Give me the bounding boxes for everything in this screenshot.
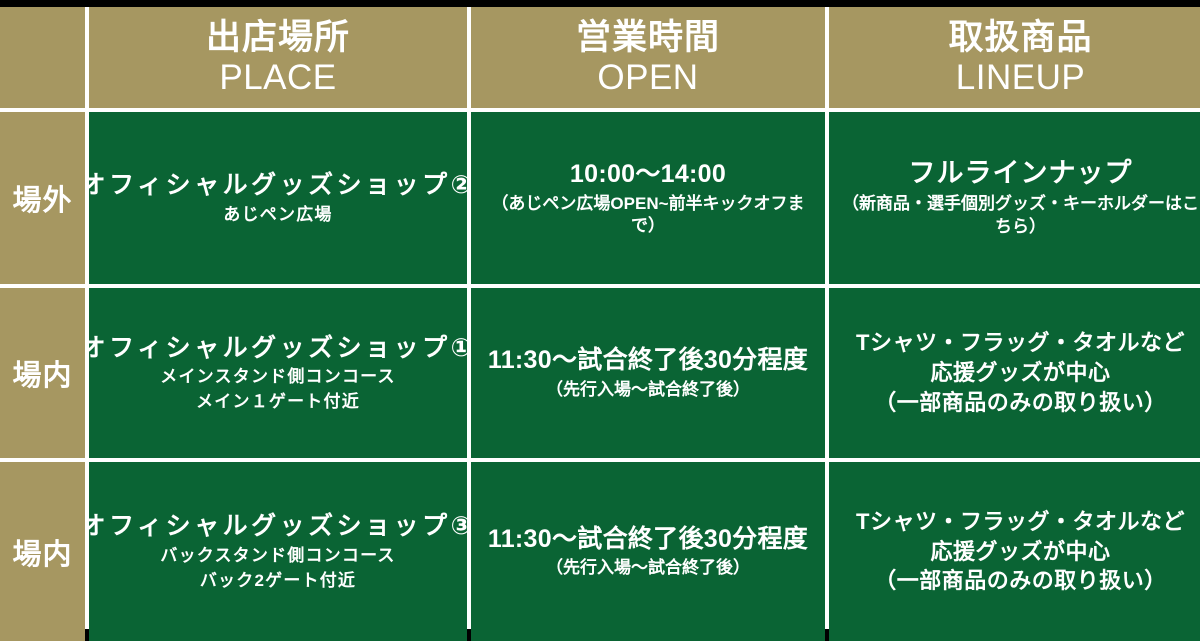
- open-main-text: 10:00〜14:00: [570, 159, 726, 190]
- open-cell: 10:00〜14:00 （あじペン広場OPEN~前半キックオフまで）: [471, 112, 825, 284]
- lineup-line-2: 応援グッズが中心: [930, 537, 1110, 567]
- header-place-en: PLACE: [219, 58, 336, 97]
- header-cell-open: 営業時間 OPEN: [471, 7, 825, 108]
- place-main-text: オフィシャルグッズショップ③: [89, 510, 467, 543]
- table-row: 場内: [0, 462, 85, 641]
- row-label: 場内: [12, 531, 72, 573]
- table-grid: 出店場所 PLACE 営業時間 OPEN 取扱商品 LINEUP 場外 オフィシ…: [0, 7, 1200, 629]
- header-open-en: OPEN: [597, 58, 698, 97]
- place-sub-text-2: メイン１ゲート付近: [196, 391, 360, 414]
- place-sub-text: あじペン広場: [223, 204, 332, 227]
- open-main-text: 11:30〜試合終了後30分程度: [488, 524, 808, 555]
- lineup-line-1: Tシャツ・フラッグ・タオルなど: [856, 507, 1185, 537]
- table-row: 場外: [0, 112, 85, 284]
- place-cell: オフィシャルグッズショップ① メインスタンド側コンコース メイン１ゲート付近: [89, 288, 467, 458]
- place-main-text: オフィシャルグッズショップ②: [89, 169, 467, 202]
- top-black-bar: [0, 0, 1200, 7]
- header-lineup-en: LINEUP: [956, 58, 1085, 97]
- lineup-cell: フルラインナップ （新商品・選手個別グッズ・キーホルダーはこちら）: [829, 112, 1200, 284]
- place-sub-text: バックスタンド側コンコース: [160, 545, 395, 568]
- place-cell: オフィシャルグッズショップ③ バックスタンド側コンコース バック2ゲート付近: [89, 462, 467, 641]
- open-cell: 11:30〜試合終了後30分程度 （先行入場〜試合終了後）: [471, 288, 825, 458]
- header-place-jp: 出店場所: [206, 18, 350, 57]
- row-label: 場内: [12, 352, 72, 394]
- header-cell-place: 出店場所 PLACE: [89, 7, 467, 108]
- lineup-line-2: 応援グッズが中心: [930, 358, 1110, 388]
- goods-shop-info-table: 出店場所 PLACE 営業時間 OPEN 取扱商品 LINEUP 場外 オフィシ…: [0, 0, 1200, 629]
- lineup-sub-text: （新商品・選手個別グッズ・キーホルダーはこちら）: [841, 193, 1200, 239]
- place-sub-text-2: バック2ゲート付近: [200, 570, 356, 593]
- header-cell-lineup: 取扱商品 LINEUP: [829, 7, 1200, 108]
- open-cell: 11:30〜試合終了後30分程度 （先行入場〜試合終了後）: [471, 462, 825, 641]
- place-cell: オフィシャルグッズショップ② あじペン広場: [89, 112, 467, 284]
- open-main-text: 11:30〜試合終了後30分程度: [488, 345, 808, 376]
- lineup-line-3: （一部商品のみの取り扱い）: [874, 566, 1167, 596]
- lineup-line-3: （一部商品のみの取り扱い）: [874, 388, 1167, 418]
- lineup-line-1: Tシャツ・フラッグ・タオルなど: [856, 328, 1185, 358]
- table-row: 場内: [0, 288, 85, 458]
- lineup-cell: Tシャツ・フラッグ・タオルなど 応援グッズが中心 （一部商品のみの取り扱い）: [829, 462, 1200, 641]
- open-sub-text: （先行入場〜試合終了後）: [546, 379, 750, 401]
- lineup-main-text: フルラインナップ: [909, 157, 1133, 191]
- header-open-jp: 営業時間: [576, 18, 720, 57]
- open-sub-text: （あじペン広場OPEN~前半キックオフまで）: [483, 193, 813, 237]
- lineup-cell: Tシャツ・フラッグ・タオルなど 応援グッズが中心 （一部商品のみの取り扱い）: [829, 288, 1200, 458]
- row-label: 場外: [12, 177, 72, 219]
- place-sub-text: メインスタンド側コンコース: [160, 366, 395, 389]
- open-sub-text: （先行入場〜試合終了後）: [546, 557, 750, 579]
- header-corner-cell: [0, 7, 85, 108]
- place-main-text: オフィシャルグッズショップ①: [89, 332, 467, 365]
- header-lineup-jp: 取扱商品: [948, 18, 1092, 57]
